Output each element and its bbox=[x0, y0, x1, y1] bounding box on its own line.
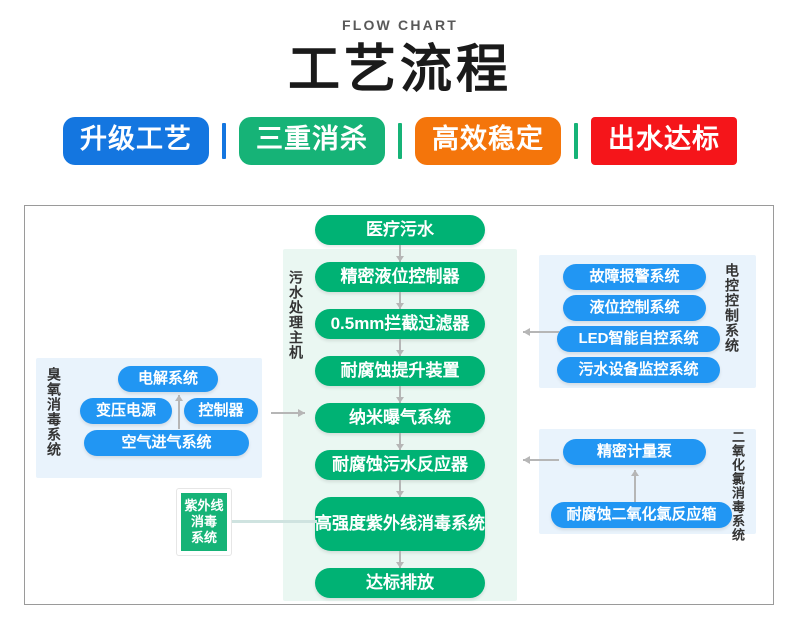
ozone-node-transformer-power[interactable]: 变压电源 bbox=[80, 398, 172, 424]
uv-box-line2: 消毒 bbox=[191, 514, 217, 530]
arrow-chlorine-to-main bbox=[523, 459, 559, 461]
badge-separator-3 bbox=[574, 123, 578, 159]
flow-diagram-frame: 污水处理主机 医疗污水 精密液位控制器 0.5mm拦截过滤器 耐腐蚀提升装置 纳… bbox=[24, 205, 774, 605]
ozone-node-electrolysis[interactable]: 电解系统 bbox=[118, 366, 218, 392]
uv-node-line1: 高强度 bbox=[315, 514, 366, 534]
electric-node-equipment-monitor[interactable]: 污水设备监控系统 bbox=[557, 357, 720, 383]
uv-connector-line bbox=[231, 520, 317, 523]
ozone-node-controller[interactable]: 控制器 bbox=[184, 398, 258, 424]
page-header: FLOW CHART 工艺流程 bbox=[0, 0, 800, 101]
electric-panel-vertical-label: 电控控制系统 bbox=[725, 263, 739, 353]
badge-separator-1 bbox=[222, 123, 226, 159]
flow-node-outlet[interactable]: 达标排放 bbox=[315, 568, 485, 598]
flow-node-filter[interactable]: 0.5mm拦截过滤器 bbox=[315, 309, 485, 339]
connector-step4-to-step5 bbox=[399, 433, 401, 450]
flow-node-nano-aeration[interactable]: 纳米曝气系统 bbox=[315, 403, 485, 433]
connector-uv-to-outlet bbox=[399, 551, 401, 568]
electric-node-fault-alarm[interactable]: 故障报警系统 bbox=[563, 264, 706, 290]
flow-node-level-controller[interactable]: 精密液位控制器 bbox=[315, 262, 485, 292]
connector-step1-to-step2 bbox=[399, 292, 401, 309]
chlorine-node-reactor-box[interactable]: 耐腐蚀二氧化氯反应箱 bbox=[551, 502, 732, 528]
connector-step2-to-step3 bbox=[399, 339, 401, 356]
feature-badge-row: 升级工艺 三重消杀 高效稳定 出水达标 bbox=[0, 117, 800, 165]
ozone-panel-vertical-label: 臭氧消毒系统 bbox=[47, 367, 61, 457]
page-title: 工艺流程 bbox=[0, 41, 800, 101]
badge-separator-2 bbox=[398, 123, 402, 159]
chlorine-panel-vertical-label: 二氧化氯消毒系统 bbox=[731, 430, 744, 542]
uv-system-box[interactable]: 紫外线 消毒 系统 bbox=[177, 489, 231, 555]
flow-node-uv-disinfection[interactable]: 高强度 紫外线消毒系统 bbox=[315, 497, 485, 551]
kicker-text: FLOW CHART bbox=[0, 17, 800, 33]
badge-upgrade-process[interactable]: 升级工艺 bbox=[63, 117, 209, 165]
connector-step5-to-uv bbox=[399, 480, 401, 497]
main-column-vertical-label: 污水处理主机 bbox=[289, 270, 303, 360]
uv-node-line2: 紫外线消毒系统 bbox=[366, 514, 485, 534]
chlorine-node-dosing-pump[interactable]: 精密计量泵 bbox=[563, 439, 706, 465]
uv-box-line1: 紫外线 bbox=[184, 498, 223, 514]
electric-node-level-control[interactable]: 液位控制系统 bbox=[563, 295, 706, 321]
flow-node-lift-device[interactable]: 耐腐蚀提升装置 bbox=[315, 356, 485, 386]
arrow-electric-to-main bbox=[523, 331, 559, 333]
connector-ozone-air-to-electrolysis bbox=[178, 395, 180, 429]
badge-effluent-standard[interactable]: 出水达标 bbox=[591, 117, 737, 165]
connector-inlet-to-step1 bbox=[399, 245, 401, 262]
uv-box-line3: 系统 bbox=[191, 530, 217, 546]
electric-node-led-auto-control[interactable]: LED智能自控系统 bbox=[557, 326, 720, 352]
connector-chlorine-reactor-to-pump bbox=[634, 470, 636, 502]
ozone-node-air-intake[interactable]: 空气进气系统 bbox=[84, 430, 249, 456]
connector-step3-to-step4 bbox=[399, 386, 401, 403]
badge-efficient-stable[interactable]: 高效稳定 bbox=[415, 117, 561, 165]
arrow-ozone-to-main bbox=[271, 412, 305, 414]
flow-node-inlet[interactable]: 医疗污水 bbox=[315, 215, 485, 245]
flow-node-reactor[interactable]: 耐腐蚀污水反应器 bbox=[315, 450, 485, 480]
badge-triple-disinfection[interactable]: 三重消杀 bbox=[239, 117, 385, 165]
